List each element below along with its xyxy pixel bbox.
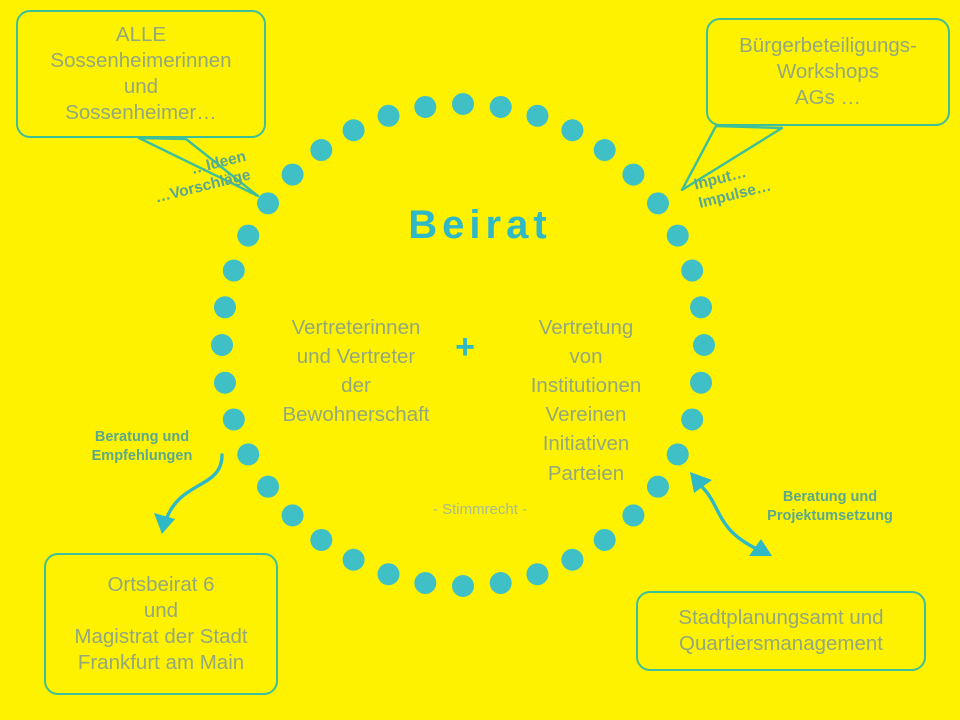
callout-right-text: Bürgerbeteiligungs- Workshops AGs … <box>739 33 917 112</box>
ring-dot <box>452 93 474 115</box>
box-ortsbeirat-text: Ortsbeirat 6 und Magistrat der Stadt Fra… <box>74 572 247 677</box>
ring-dot <box>282 164 304 186</box>
ring-dot <box>223 408 245 430</box>
ring-dot <box>211 334 233 356</box>
ring-dot <box>526 105 548 127</box>
beirat-members-left: Vertreterinnen und Vertreter der Bewohne… <box>270 313 442 429</box>
annotation-beratung-projektumsetzung: Beratung und Projektumsetzung <box>744 488 916 526</box>
box-stadtplanungsamt[interactable]: Stadtplanungsamt und Quartiersmanagement <box>636 591 926 671</box>
ring-dot <box>561 119 583 141</box>
plus-icon: + <box>447 330 483 364</box>
ring-dot <box>378 563 400 585</box>
ring-dot <box>693 334 715 356</box>
ring-dot <box>414 572 436 594</box>
ring-dot <box>378 105 400 127</box>
box-stadtplanungsamt-text: Stadtplanungsamt und Quartiersmanagement <box>678 605 883 657</box>
ring-dot <box>310 529 332 551</box>
ring-dot <box>561 549 583 571</box>
ring-dot <box>343 549 365 571</box>
ring-dot <box>343 119 365 141</box>
ring-dot <box>681 260 703 282</box>
ring-dot <box>490 572 512 594</box>
ring-dot <box>237 443 259 465</box>
ring-dot <box>690 372 712 394</box>
ring-dot <box>690 296 712 318</box>
ring-dot <box>622 164 644 186</box>
ring-dot <box>490 96 512 118</box>
callout-left-text: ALLE Sossenheimerinnen und Sossenheimer… <box>50 22 231 127</box>
arrow-projektumsetzung-head-down <box>749 539 772 556</box>
ring-dot <box>594 139 616 161</box>
arrow-projektumsetzung-head-up <box>690 472 712 493</box>
ring-dot <box>452 575 474 597</box>
ring-dot <box>223 260 245 282</box>
ring-dot <box>310 139 332 161</box>
ring-dot <box>257 476 279 498</box>
ring-dot <box>214 296 236 318</box>
callout-alle-sossenheimer[interactable]: ALLE Sossenheimerinnen und Sossenheimer… <box>16 10 266 138</box>
ring-dot <box>681 408 703 430</box>
ring-dot <box>594 529 616 551</box>
callout-buergerbeteiligung[interactable]: Bürgerbeteiligungs- Workshops AGs … <box>706 18 950 126</box>
annotation-beratung-empfehlungen: Beratung und Empfehlungen <box>62 428 222 466</box>
ring-dot <box>526 563 548 585</box>
ring-dot <box>414 96 436 118</box>
ring-dot <box>214 372 236 394</box>
beirat-members-right: Vertretung von Institutionen Vereinen In… <box>500 313 672 488</box>
diagram-canvas: ALLE Sossenheimerinnen und Sossenheimer…… <box>0 0 960 720</box>
box-ortsbeirat[interactable]: Ortsbeirat 6 und Magistrat der Stadt Fra… <box>44 553 278 695</box>
